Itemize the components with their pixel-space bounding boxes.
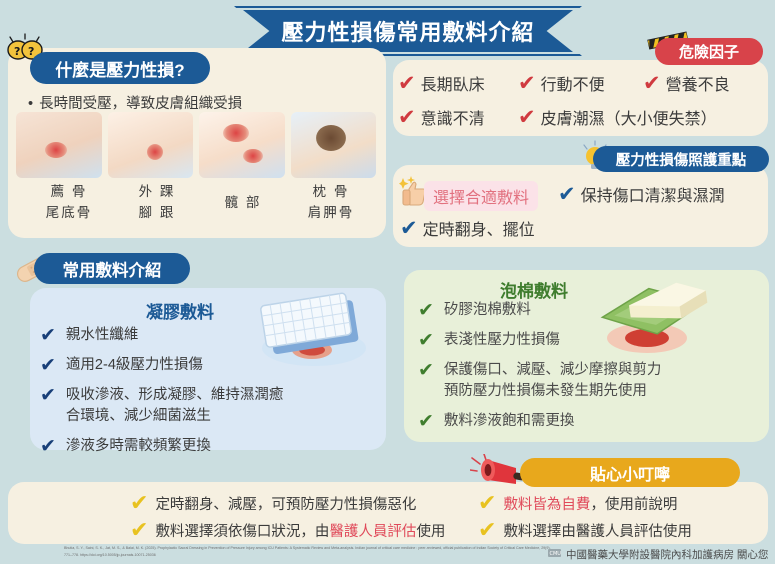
risk-factors-badge: 危險因子 [655,38,763,65]
check-icon: ✔ [40,356,56,375]
gel-item-4-label: 滲液多時需較頻繁更換 [66,436,211,457]
svg-text:CMU: CMU [550,551,562,557]
tips-badge: 貼心小叮嚀 [520,458,740,487]
label-sacrum-line1: 薦 骨 [26,182,112,203]
tips-right-item-1-highlight: 敷料皆為自費 [503,497,590,513]
risk-row-2: ✔ 意識不清 ✔ 皮膚潮濕（大小便失禁） [398,100,768,134]
hospital-name: 中國醫藥大學附設醫院內科加護病房 關心您 [566,547,768,562]
gel-item-2-label: 適用2-4級壓力性損傷 [66,355,203,376]
check-icon: ✔ [418,361,434,380]
tips-right-item-1: ✔ 敷料皆為自費，使用前說明 [478,492,692,514]
check-icon: ✔ [418,331,434,350]
gel-item-3-label: 吸收滲液、形成凝膠、維持濕潤癒 合環境、減少細菌滋生 [66,385,284,427]
check-icon: ✔ [478,492,496,514]
label-hip-line1: 髖 部 [200,193,286,214]
care-points-badge-label: 壓力性損傷照護重點 [616,149,747,170]
tips-right-item-1-suffix: ，使用前說明 [590,497,677,513]
tips-left-item-1-label: 定時翻身、減壓，可預防壓力性損傷惡化 [155,493,416,514]
check-icon: ✔ [400,218,418,239]
risk-item-1-label: 長期臥床 [421,71,485,95]
tips-badge-label: 貼心小叮嚀 [590,461,670,485]
foam-dressing-title: 泡棉敷料 [500,277,568,302]
tips-left-item-2-prefix: 敷料選擇須依傷口狀況，由 [155,524,329,540]
label-occiput-line1: 枕 骨 [288,182,374,203]
tips-right-column: ✔ 敷料皆為自費，使用前說明 ✔ 敷料選擇由醫護人員評估使用 [478,492,692,546]
tips-left-item-2-label: 敷料選擇須依傷口狀況，由醫護人員評估使用 [155,520,445,541]
risk-item-3-label: 營養不良 [666,71,730,95]
check-icon: ✔ [643,73,661,94]
check-icon: ✔ [398,73,416,94]
check-icon: ✔ [518,73,536,94]
gel-item-1: ✔ 親水性纖維 [40,325,370,346]
risk-item-4: ✔ 意識不清 [398,105,518,129]
care-item-1-label: 保持傷口清潔與濕潤 [581,182,725,206]
occiput-scapula-image [291,112,377,178]
tips-right-item-2: ✔ 敷料選擇由醫護人員評估使用 [478,519,692,541]
dressing-intro-badge-label: 常用敷料介紹 [63,257,162,281]
gel-dressing-list: ✔ 親水性纖維 ✔ 適用2-4級壓力性損傷 ✔ 吸收滲液、形成凝膠、維持濕潤癒 … [40,325,370,466]
foam-item-3: ✔ 保護傷口、減壓、減少摩擦與剪力 預防壓力性損傷未發生期先使用 [418,360,768,402]
risk-item-2-label: 行動不便 [541,71,605,95]
gel-item-2: ✔ 適用2-4級壓力性損傷 [40,355,370,376]
risk-factors-badge-label: 危險因子 [679,41,739,62]
gel-item-1-label: 親水性纖維 [66,325,139,346]
risk-item-5: ✔ 皮膚潮濕（大小便失禁） [518,105,717,129]
what-is-badge-label: 什麼是壓力性損? [55,56,184,81]
care-item-2: ✔ 定時翻身、擺位 [400,216,535,240]
body-site-images [16,112,376,178]
tips-left-item-2: ✔ 敷料選擇須依傷口狀況，由醫護人員評估使用 [130,519,445,541]
check-icon: ✔ [130,519,148,541]
what-is-badge: 什麼是壓力性損? [30,52,210,84]
check-icon: ✔ [418,301,434,320]
check-icon: ✔ [398,107,416,128]
care-item-2-label: 定時翻身、擺位 [423,216,535,240]
svg-text:?: ? [14,45,20,58]
foam-item-1: ✔ 矽膠泡棉敷料 [418,300,768,321]
check-icon: ✔ [40,437,56,456]
check-icon: ✔ [518,107,536,128]
care-highlight: 選擇合適敷料 [424,181,538,211]
dressing-intro-badge: 常用敷料介紹 [34,253,190,284]
risk-item-5-label: 皮膚潮濕（大小便失禁） [541,105,717,129]
hospital-logo-icon: CMU [548,548,562,558]
tips-right-item-1-label: 敷料皆為自費，使用前說明 [503,493,677,514]
foam-item-4: ✔ 敷料滲液飽和需更換 [418,411,768,432]
care-points-badge: 壓力性損傷照護重點 [593,146,769,172]
tips-left-item-2-suffix: 使用 [416,524,445,540]
sacrum-image [16,112,102,178]
risk-item-4-label: 意識不清 [421,105,485,129]
risk-factors-list: ✔ 長期臥床 ✔ 行動不便 ✔ 營養不良 ✔ 意識不清 ✔ 皮膚潮濕（大小便失禁… [398,66,768,134]
care-item-1: ✔ 保持傷口清潔與濕潤 [558,182,725,206]
foam-item-1-label: 矽膠泡棉敷料 [444,300,531,321]
tips-right-item-2-label: 敷料選擇由醫護人員評估使用 [503,520,692,541]
tips-left-item-1: ✔ 定時翻身、減壓，可預防壓力性損傷惡化 [130,492,445,514]
foam-item-2-label: 表淺性壓力性損傷 [444,330,560,351]
label-ankle-line2: 腳 跟 [114,203,200,224]
check-icon: ✔ [478,519,496,541]
citation-text: Bhutia, S. Y., Saini, S. K., Jat, M. S.,… [64,545,554,559]
foam-item-3-label: 保護傷口、減壓、減少摩擦與剪力 預防壓力性損傷未發生期先使用 [444,360,662,402]
foam-dressing-list: ✔ 矽膠泡棉敷料 ✔ 表淺性壓力性損傷 ✔ 保護傷口、減壓、減少摩擦與剪力 預防… [418,300,768,441]
foam-item-4-label: 敷料滲液飽和需更換 [444,411,575,432]
check-icon: ✔ [40,386,56,405]
risk-item-3: ✔ 營養不良 [643,71,730,95]
gel-item-4: ✔ 滲液多時需較頻繁更換 [40,436,370,457]
risk-item-2: ✔ 行動不便 [518,71,643,95]
page-title: 壓力性損傷常用敷料介紹 [243,10,573,52]
gel-dressing-title: 凝膠敷料 [146,298,214,323]
check-icon: ✔ [130,492,148,514]
what-is-bullet: 長時間受壓，導致皮膚組織受損 [28,92,242,113]
label-sacrum-line2: 尾底骨 [26,203,112,224]
label-ankle-line1: 外 踝 [114,182,200,203]
check-icon: ✔ [558,184,576,205]
page-title-banner: 壓力性損傷常用敷料介紹 [243,10,573,52]
label-occiput-line2: 肩胛骨 [288,203,374,224]
hip-image [199,112,285,178]
check-icon: ✔ [418,412,434,431]
ankle-heel-image [108,112,194,178]
body-site-labels: 薦 骨 尾底骨 外 踝 腳 跟 髖 部 枕 骨 肩胛骨 [10,182,380,234]
check-icon: ✔ [40,326,56,345]
tips-left-column: ✔ 定時翻身、減壓，可預防壓力性損傷惡化 ✔ 敷料選擇須依傷口狀況，由醫護人員評… [130,492,445,546]
risk-row-1: ✔ 長期臥床 ✔ 行動不便 ✔ 營養不良 [398,66,768,100]
tips-left-item-2-highlight: 醫護人員評估 [329,524,416,540]
risk-item-1: ✔ 長期臥床 [398,71,518,95]
tips-left-item-1-prefix: 定時翻身、減壓，可預防壓力性損傷惡化 [155,497,416,513]
foam-item-2: ✔ 表淺性壓力性損傷 [418,330,768,351]
tips-right-item-2-prefix: 敷料選擇由醫護人員評估使用 [503,524,692,540]
gel-item-3: ✔ 吸收滲液、形成凝膠、維持濕潤癒 合環境、減少細菌滋生 [40,385,370,427]
